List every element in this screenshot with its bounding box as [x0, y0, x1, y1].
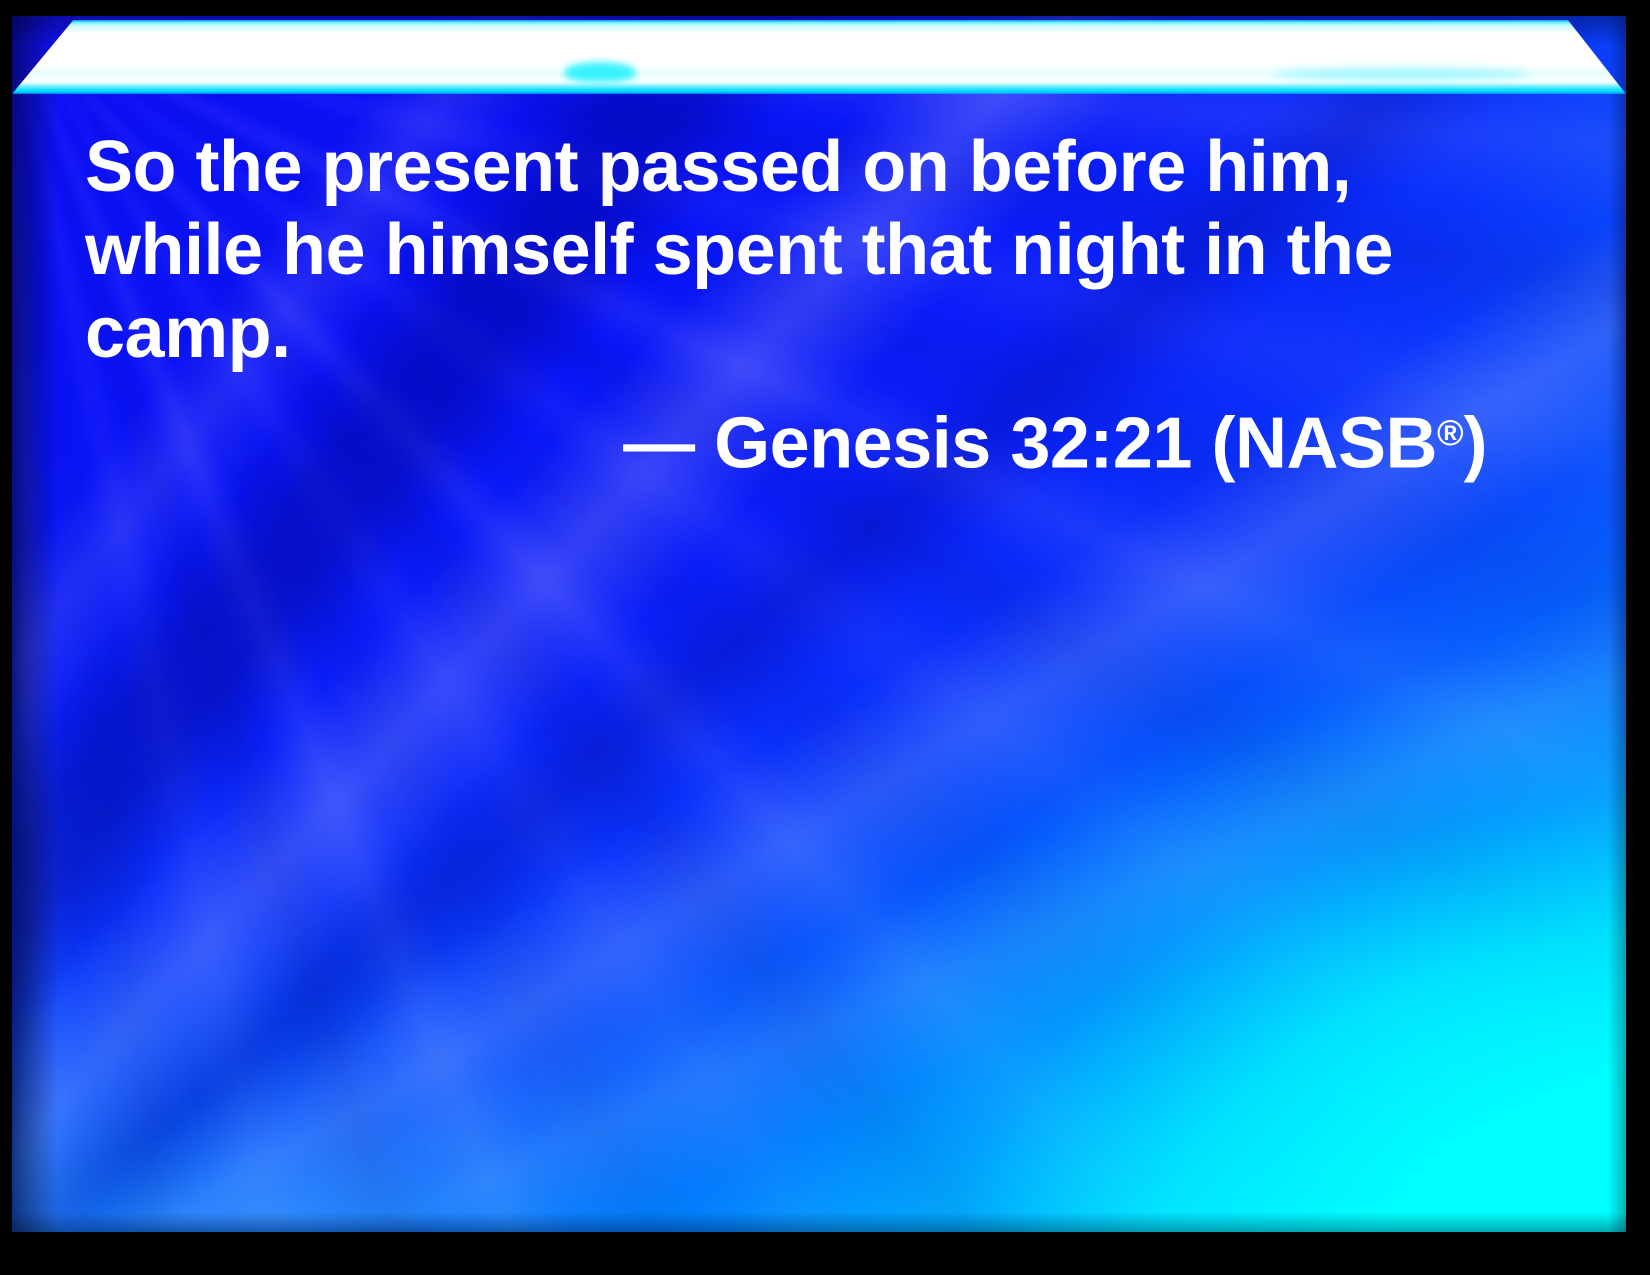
citation-em-dash: — [623, 403, 695, 483]
citation-version-open-paren: (NASB [1211, 403, 1437, 483]
banner-cyan-blob-right [1271, 68, 1531, 80]
top-banner [12, 20, 1626, 94]
verse-block: So the present passed on before him, whi… [85, 126, 1505, 485]
banner-cyan-blob-left [564, 62, 636, 82]
citation-version-close-paren: ) [1464, 403, 1487, 483]
citation-reference: Genesis 32:21 [714, 403, 1192, 483]
verse-text: So the present passed on before him, whi… [85, 126, 1505, 375]
verse-citation: — Genesis 32:21 (NASB®) [85, 391, 1505, 485]
registered-trademark-icon: ® [1437, 412, 1464, 453]
slide-canvas: So the present passed on before him, whi… [12, 16, 1626, 1232]
slide-frame: So the present passed on before him, whi… [0, 0, 1650, 1275]
